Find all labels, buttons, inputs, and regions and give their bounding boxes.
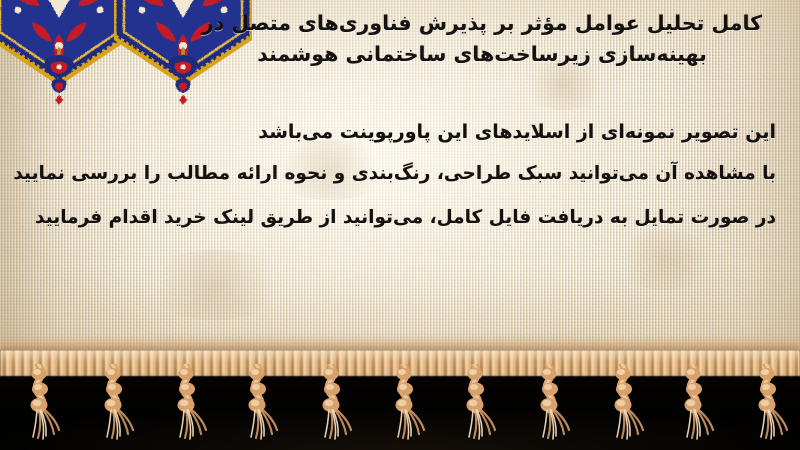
- fringe-tassel-icon: [531, 364, 571, 442]
- fringe-tassel-icon: [22, 364, 62, 442]
- slide-body-line-2: با مشاهده آن می‌توانید سبک طراحی، رنگ‌بن…: [22, 152, 778, 196]
- slide-title: کامل تحلیل عوامل مؤثر بر پذیرش فناوری‌ها…: [182, 8, 782, 70]
- fringe-tassel-icon: [95, 364, 135, 442]
- fringe-tassel-icon: [604, 364, 644, 442]
- fringe-tassel-icon: [749, 364, 789, 442]
- fringe-tassel-icon: [385, 364, 425, 442]
- slide-body-line-1: این تصویر نمونه‌ای از اسلایدهای این پاور…: [22, 112, 778, 152]
- fringe-tassel-icon: [676, 364, 716, 442]
- slide-text-layer: کامل تحلیل عوامل مؤثر بر پذیرش فناوری‌ها…: [0, 0, 800, 372]
- fringe-tassel-icon: [313, 364, 353, 442]
- fringe-tassel-icon: [458, 364, 498, 442]
- fringe-tassel-icon: [167, 364, 207, 442]
- fringe-tassel-icon: [240, 364, 280, 442]
- slide-title-line-1: کامل تحلیل عوامل مؤثر بر پذیرش فناوری‌ها…: [182, 8, 782, 39]
- slide-body-line-3: در صورت تمایل به دریافت فایل کامل، می‌تو…: [22, 196, 778, 240]
- slide-title-line-2: بهینه‌سازی زیرساخت‌های ساختمانی هوشمند: [182, 39, 782, 70]
- carpet-fringe-band: [0, 350, 800, 450]
- slide-canvas: کامل تحلیل عوامل مؤثر بر پذیرش فناوری‌ها…: [0, 0, 800, 450]
- slide-body: این تصویر نمونه‌ای از اسلایدهای این پاور…: [22, 112, 778, 240]
